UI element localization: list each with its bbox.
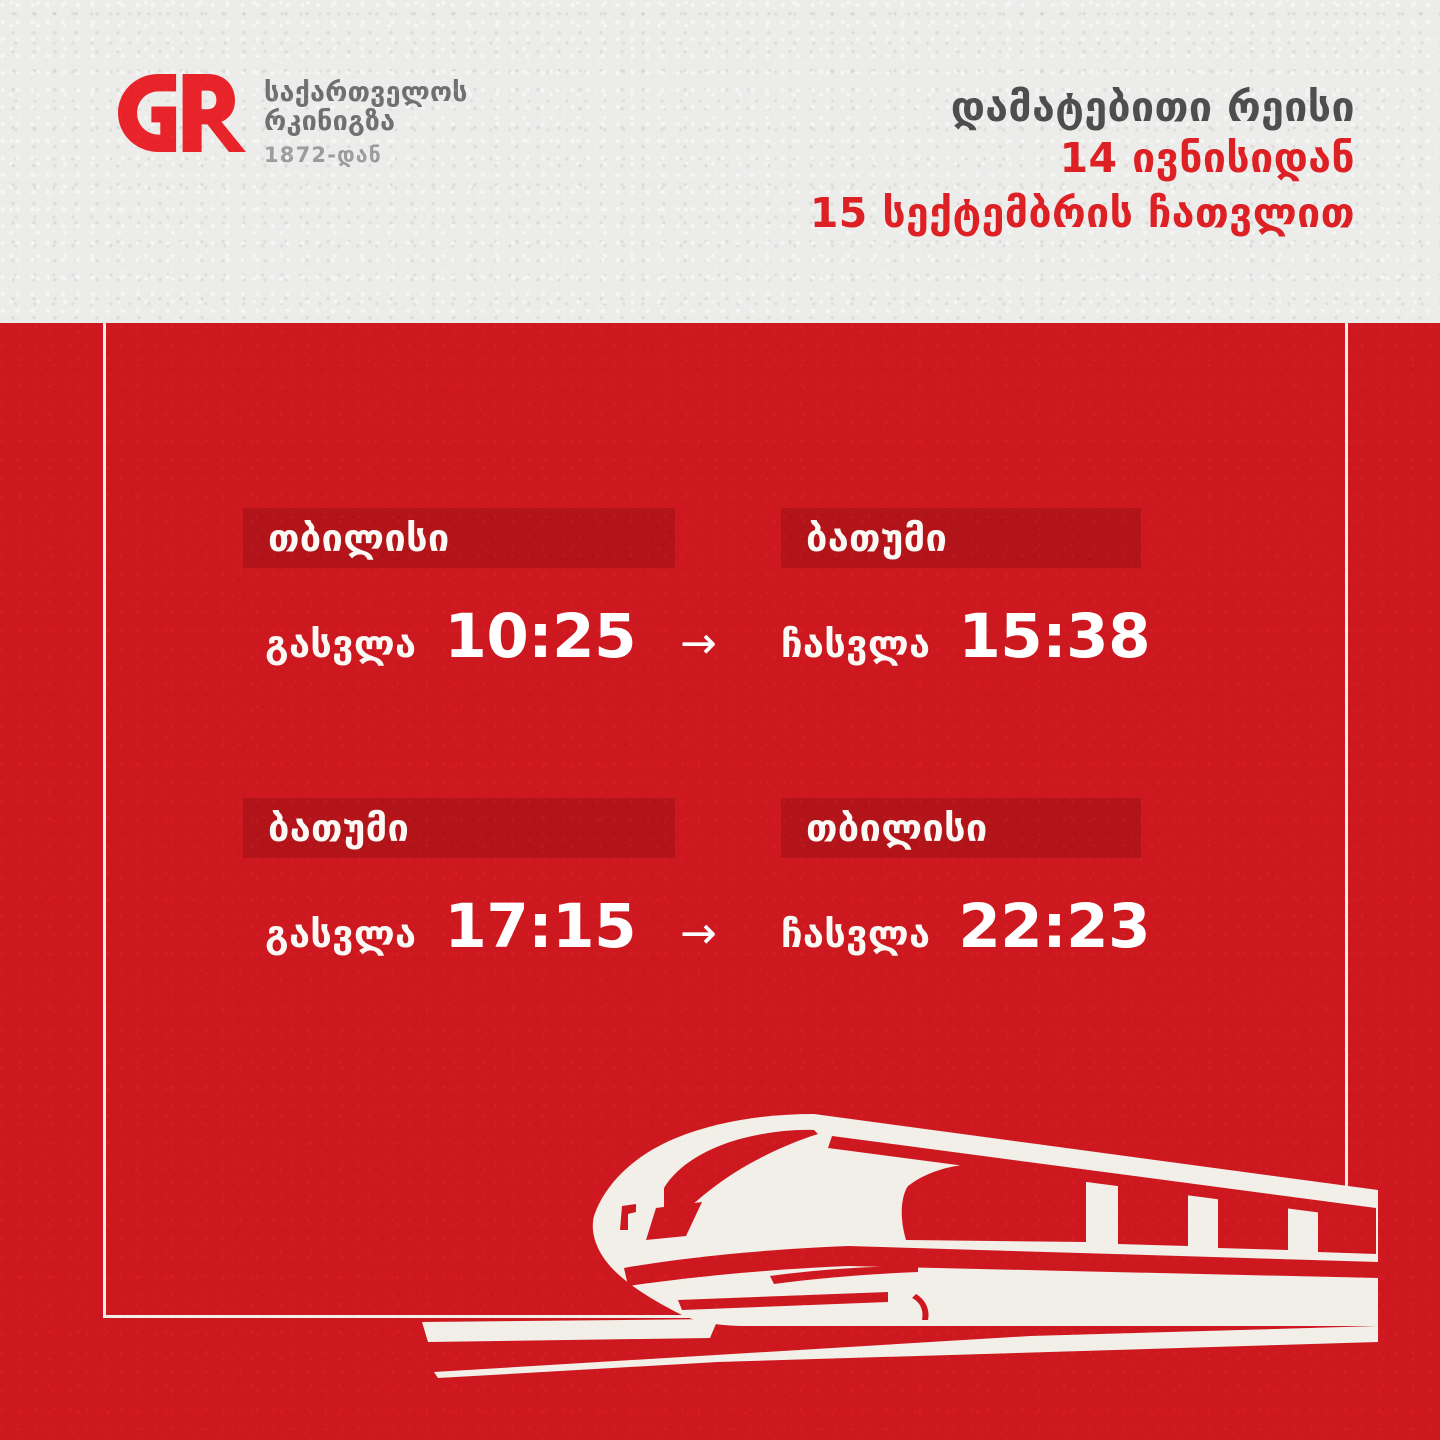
brand-name-line2: რკინიგზა — [264, 107, 468, 136]
origin-station-badge: ბათუმი — [243, 798, 675, 858]
departure-group: გასვლა 10:25 — [265, 606, 636, 667]
brand-name-line1: საქართველოს — [264, 78, 468, 107]
origin-station-name: ბათუმი — [243, 806, 409, 850]
trip-stations: ბათუმი თბილისი — [243, 798, 1193, 858]
trip-stations: თბილისი ბათუმი — [243, 508, 1193, 568]
headline-title: დამატებითი რეისი — [810, 84, 1355, 131]
arrival-time: 22:23 — [958, 896, 1150, 957]
arrow-right-icon: → — [680, 912, 717, 956]
origin-station-badge: თბილისი — [243, 508, 675, 568]
destination-station-name: თბილისი — [781, 806, 988, 850]
header-headline: დამატებითი რეისი 14 ივნისიდან 15 სექტემბ… — [810, 84, 1355, 241]
brand-since: 1872-დან — [264, 143, 468, 167]
header-banner: საქართველოს რკინიგზა 1872-დან დამატებითი… — [0, 0, 1440, 323]
departure-time: 17:15 — [444, 896, 636, 957]
origin-station-name: თბილისი — [243, 516, 450, 560]
brand-logo[interactable]: საქართველოს რკინიგზა 1872-დან — [118, 74, 468, 167]
departure-label: გასვლა — [265, 912, 416, 956]
departure-label: გასვლა — [265, 622, 416, 666]
trip-row: ბათუმი თბილისი გასვლა 17:15 → ჩასვლა 22:… — [243, 798, 1193, 976]
destination-station-badge: თბილისი — [781, 798, 1141, 858]
arrival-label: ჩასვლა — [781, 912, 930, 956]
high-speed-train-icon — [418, 1090, 1378, 1390]
destination-station-badge: ბათუმი — [781, 508, 1141, 568]
headline-date-to: 15 სექტემბრის ჩათვლით — [810, 186, 1355, 241]
arrival-group: ჩასვლა 22:23 — [781, 896, 1150, 957]
trip-times: გასვლა 10:25 → ჩასვლა 15:38 — [243, 606, 1193, 686]
trip-times: გასვლა 17:15 → ჩასვლა 22:23 — [243, 896, 1193, 976]
departure-group: გასვლა 17:15 — [265, 896, 636, 957]
arrival-time: 15:38 — [958, 606, 1150, 667]
headline-date-from: 14 ივნისიდან — [810, 131, 1355, 186]
destination-station-name: ბათუმი — [781, 516, 947, 560]
arrival-label: ჩასვლა — [781, 622, 930, 666]
arrival-group: ჩასვლა 15:38 — [781, 606, 1150, 667]
gr-monogram-icon — [118, 74, 246, 156]
departure-time: 10:25 — [444, 606, 636, 667]
trip-row: თბილისი ბათუმი გასვლა 10:25 → ჩასვლა 15:… — [243, 508, 1193, 686]
arrow-right-icon: → — [680, 622, 717, 666]
brand-name: საქართველოს რკინიგზა 1872-დან — [264, 74, 468, 167]
